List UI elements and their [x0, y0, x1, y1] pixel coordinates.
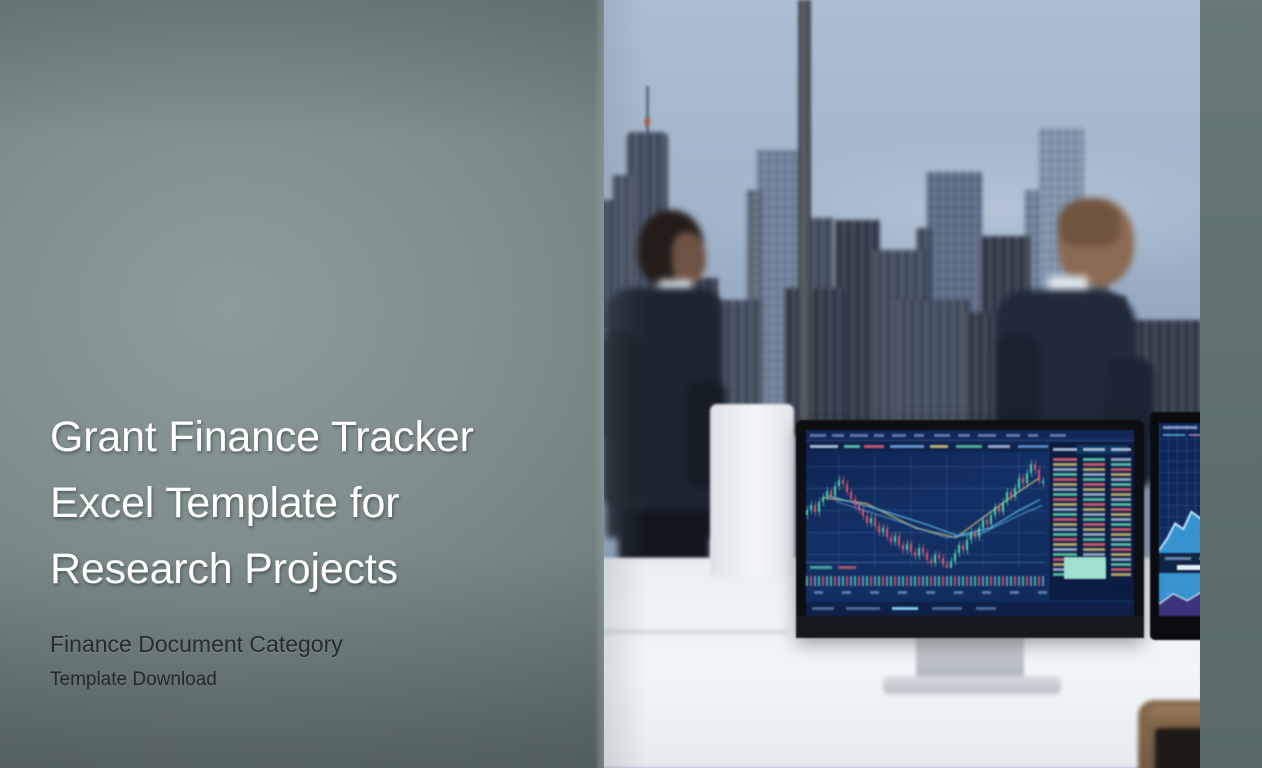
hero-photo: [598, 0, 1202, 768]
monitor-chin: [796, 616, 1144, 638]
trading-monitor-screen: [806, 430, 1134, 616]
slide-subtitle: Finance Document Category: [50, 630, 550, 658]
time-axis: [806, 588, 1046, 598]
terminal-data-panel: [1048, 442, 1134, 600]
window-mullion: [798, 0, 811, 470]
right-side-bar: [1200, 0, 1262, 768]
chart-trendlines: [806, 454, 1046, 568]
candlestick-chart: [806, 454, 1046, 568]
terminal-menu-bar: [806, 430, 1134, 441]
trading-monitor: [796, 420, 1144, 638]
desk-seam: [598, 630, 788, 634]
slide-text-block: Grant Finance Tracker Excel Template for…: [50, 404, 550, 692]
wall-edge-highlight: [594, 0, 604, 768]
secondary-monitor: [1150, 412, 1202, 640]
monitor-stand-foot: [883, 676, 1061, 694]
slide-meta: Template Download: [50, 668, 550, 692]
secondary-monitor-screen: [1159, 423, 1202, 616]
secondary-lower-chart: [1159, 573, 1202, 616]
imac-monitor-back: [710, 404, 794, 576]
presentation-slide: Grant Finance Tracker Excel Template for…: [0, 0, 1262, 768]
volume-chart: [806, 576, 1046, 586]
terminal-status-bar: [806, 602, 1134, 616]
page-title: Grant Finance Tracker Excel Template for…: [50, 404, 550, 602]
